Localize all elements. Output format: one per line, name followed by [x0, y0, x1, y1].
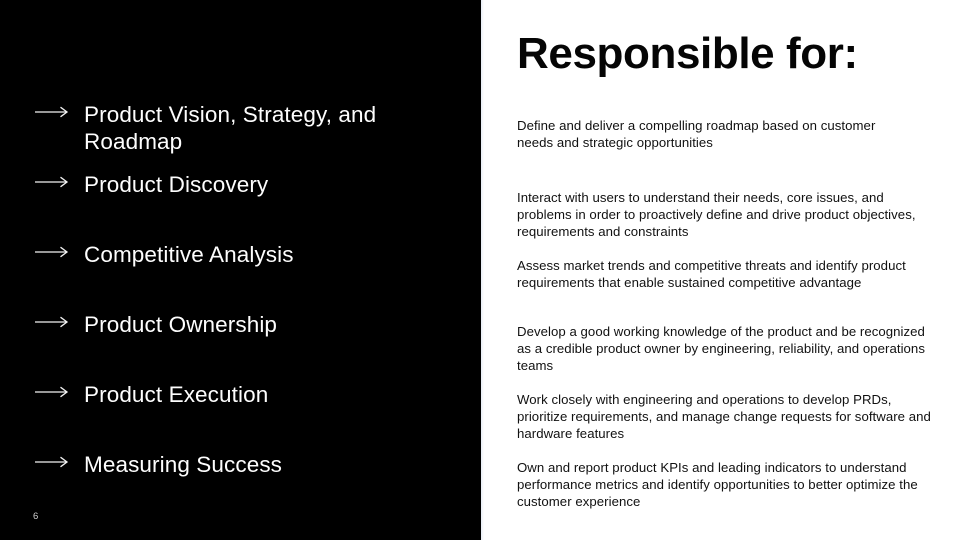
right-arrow-icon	[34, 245, 84, 259]
responsibility-paragraph: Work closely with engineering and operat…	[517, 391, 932, 442]
agenda-item-competitive-analysis[interactable]: Competitive Analysis	[34, 241, 454, 268]
agenda-item-product-discovery[interactable]: Product Discovery	[34, 171, 454, 198]
agenda-item-product-ownership[interactable]: Product Ownership	[34, 311, 454, 338]
responsibility-paragraph: Assess market trends and competitive thr…	[517, 257, 907, 291]
responsibility-paragraph: Interact with users to understand their …	[517, 189, 917, 240]
right-arrow-icon	[34, 385, 84, 399]
agenda-item-label: Measuring Success	[84, 451, 454, 478]
right-arrow-icon	[34, 315, 84, 329]
agenda-item-label: Product Discovery	[84, 171, 454, 198]
page-number: 6	[33, 511, 38, 523]
agenda-item-label: Competitive Analysis	[84, 241, 454, 268]
agenda-item-label: Product Ownership	[84, 311, 454, 338]
slide-canvas: Product Vision, Strategy, and Roadmap Pr…	[0, 0, 960, 540]
responsibility-paragraph: Develop a good working knowledge of the …	[517, 323, 935, 374]
responsibility-paragraph: Define and deliver a compelling roadmap …	[517, 117, 897, 151]
right-arrow-icon	[34, 455, 84, 469]
agenda-item-measuring-success[interactable]: Measuring Success	[34, 451, 454, 478]
right-panel: Responsible for: Define and deliver a co…	[484, 0, 960, 540]
responsibility-paragraph: Own and report product KPIs and leading …	[517, 459, 929, 510]
right-arrow-icon	[34, 175, 84, 189]
agenda-item-label: Product Execution	[84, 381, 454, 408]
page-title: Responsible for:	[517, 28, 858, 80]
agenda-item-label: Product Vision, Strategy, and Roadmap	[84, 101, 454, 155]
agenda-item-product-vision-strategy-and-roadmap[interactable]: Product Vision, Strategy, and Roadmap	[34, 101, 454, 155]
agenda-item-product-execution[interactable]: Product Execution	[34, 381, 454, 408]
right-arrow-icon	[34, 105, 84, 119]
agenda-list: Product Vision, Strategy, and Roadmap Pr…	[0, 0, 481, 540]
